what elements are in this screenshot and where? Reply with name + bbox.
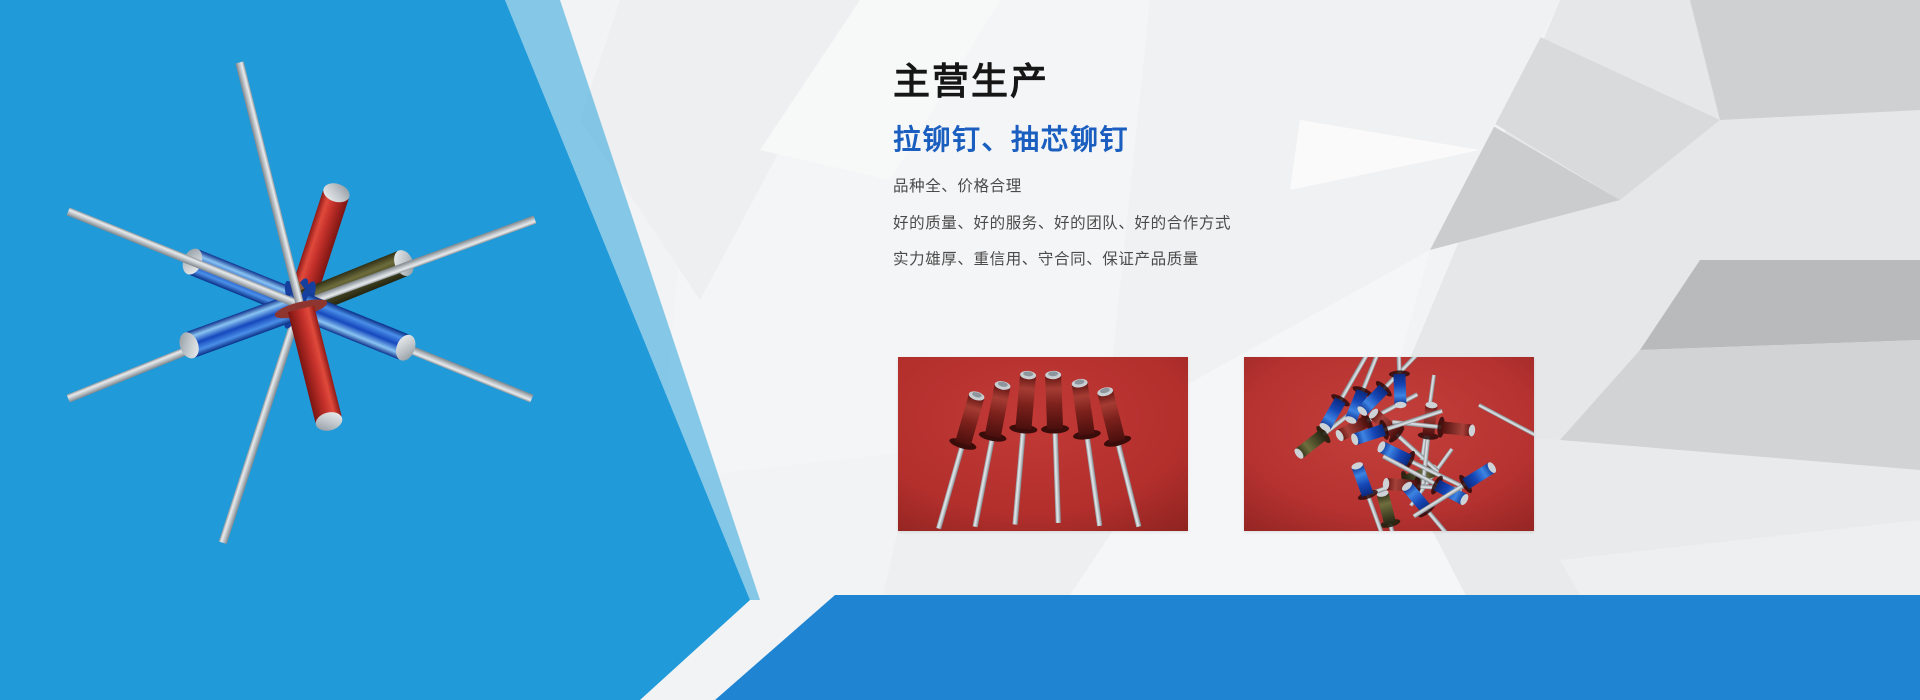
page-subtitle: 拉铆钉、抽芯铆钉 [893,125,1533,156]
description-line-1: 品种全、价格合理 [893,179,1533,195]
description-line-3: 实力雄厚、重信用、守合同、保证产品质量 [893,252,1533,268]
rivet-bottom-red [213,56,357,437]
description-line-2: 好的质量、好的服务、好的团队、好的合作方式 [893,216,1533,232]
photo-red-rivets-fan-image [898,357,1188,531]
page-title: 主营生产 [893,62,1533,103]
photo-red-rivets-fan[interactable] [898,357,1188,531]
product-promo-banner: 主营生产 拉铆钉、抽芯铆钉 品种全、价格合理 好的质量、好的服务、好的团队、好的… [0,0,1920,700]
photo-mixed-rivets-pile-image [1244,357,1534,531]
photo-mixed-rivets-pile[interactable] [1244,357,1534,531]
product-photo-row [898,357,1534,531]
promo-text-block: 主营生产 拉铆钉、抽芯铆钉 品种全、价格合理 好的质量、好的服务、好的团队、好的… [893,62,1533,289]
